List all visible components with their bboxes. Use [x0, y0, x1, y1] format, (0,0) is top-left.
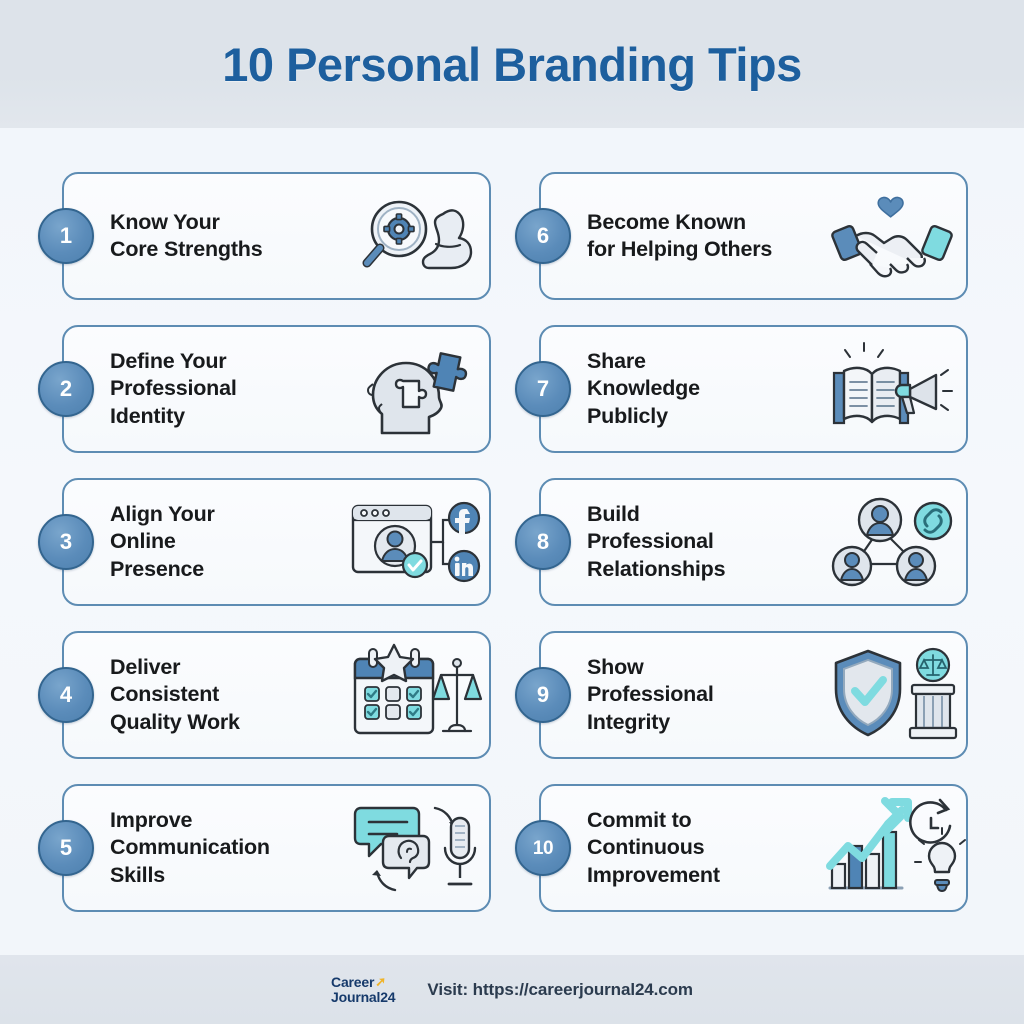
head-puzzle-icon: [351, 337, 479, 441]
visit-url[interactable]: Visit: https://careerjournal24.com: [427, 980, 693, 1000]
tip-card-5[interactable]: 5 Improve Communication Skills: [62, 784, 491, 912]
speech-ear-microphone-icon: [351, 796, 479, 900]
tip-title: Know Your Core Strengths: [110, 209, 351, 264]
tip-card-4[interactable]: 4 Deliver Consistent Quality Work: [62, 631, 491, 759]
brand-logo[interactable]: Career ➚ Journal24: [331, 975, 395, 1004]
tip-card-2[interactable]: 2 Define Your Professional Identity: [62, 325, 491, 453]
tips-body: 1 Know Your Core Strengths: [0, 128, 1024, 955]
tips-grid: 1 Know Your Core Strengths: [62, 172, 962, 912]
page-title: 10 Personal Branding Tips: [222, 37, 802, 92]
footer-band: Career ➚ Journal24 Visit: https://career…: [0, 955, 1024, 1024]
tip-title: Show Professional Integrity: [587, 654, 828, 736]
tip-number-badge: 10: [515, 820, 571, 876]
network-people-link-icon: [828, 490, 956, 594]
tip-card-7[interactable]: 7 Share Knowledge Publicly: [539, 325, 968, 453]
tip-card-10[interactable]: 10 Commit to Continuous Improvement: [539, 784, 968, 912]
shield-check-pillar-icon: [828, 643, 956, 747]
tip-card-6[interactable]: 6 Become Known for Helping Others: [539, 172, 968, 300]
tip-number-badge: 1: [38, 208, 94, 264]
magnifier-gear-muscle-icon: [351, 184, 479, 288]
tip-card-9[interactable]: 9 Show Professional Integrity: [539, 631, 968, 759]
tip-number-badge: 7: [515, 361, 571, 417]
tip-number-badge: 6: [515, 208, 571, 264]
calendar-star-scales-icon: [351, 643, 479, 747]
tip-title: Share Knowledge Publicly: [587, 348, 828, 430]
header-band: 10 Personal Branding Tips: [0, 0, 1024, 128]
tip-card-3[interactable]: 3 Align Your Online Presence: [62, 478, 491, 606]
logo-line-career: Career: [331, 975, 374, 990]
book-megaphone-icon: [828, 337, 956, 441]
tip-title: Improve Communication Skills: [110, 807, 351, 889]
browser-profile-social-icon: [351, 490, 479, 594]
tip-card-8[interactable]: 8 Build Professional Relationships: [539, 478, 968, 606]
tip-title: Define Your Professional Identity: [110, 348, 351, 430]
tip-number-badge: 8: [515, 514, 571, 570]
tip-title: Build Professional Relationships: [587, 501, 828, 583]
tip-number-badge: 9: [515, 667, 571, 723]
tip-card-1[interactable]: 1 Know Your Core Strengths: [62, 172, 491, 300]
handshake-heart-icon: [828, 184, 956, 288]
tip-title: Deliver Consistent Quality Work: [110, 654, 351, 736]
infographic-page: 10 Personal Branding Tips 1 Know Your Co…: [0, 0, 1024, 1024]
tip-title: Become Known for Helping Others: [587, 209, 828, 264]
tip-title: Commit to Continuous Improvement: [587, 807, 828, 889]
tip-title: Align Your Online Presence: [110, 501, 351, 583]
tip-number-badge: 4: [38, 667, 94, 723]
tip-number-badge: 5: [38, 820, 94, 876]
tip-number-badge: 3: [38, 514, 94, 570]
logo-line-journal: Journal24: [331, 990, 395, 1005]
arrow-up-right-icon: ➚: [375, 975, 386, 988]
tip-number-badge: 2: [38, 361, 94, 417]
growth-chart-clock-bulb-icon: [828, 796, 956, 900]
